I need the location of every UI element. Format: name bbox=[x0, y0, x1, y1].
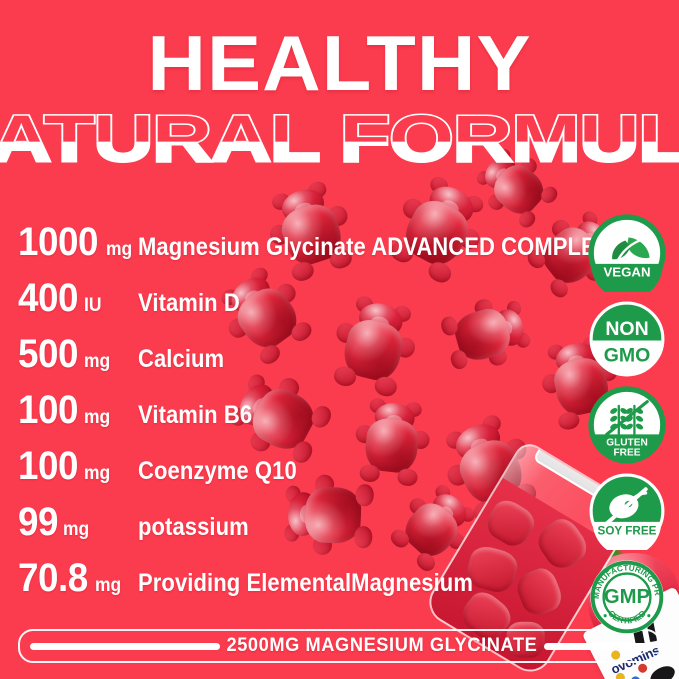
ingredient-name: Magnesium Glycinate ADVANCED COMPLEX bbox=[138, 234, 611, 260]
ingredient-unit: mg bbox=[84, 464, 110, 483]
ingredient-row: 70.8 mg Providing ElementalMagnesium bbox=[0, 558, 560, 614]
ingredient-amount: 1000 bbox=[18, 222, 98, 262]
ingredient-amount-cell: 100 mg bbox=[18, 390, 138, 430]
headline-block: HEALTHY NATURAL FORMULA NATURAL FORMULA bbox=[0, 0, 679, 176]
ingredient-amount: 100 bbox=[18, 446, 78, 486]
certification-badge-column: VEGAN NON GMO bbox=[575, 214, 679, 644]
ingredient-unit: mg bbox=[84, 408, 110, 427]
soy-free-badge-label: SOY FREE bbox=[598, 524, 657, 537]
non-gmo-badge-line2: GMO bbox=[604, 345, 651, 367]
ingredient-row: 100 mg Coenzyme Q10 bbox=[0, 446, 560, 502]
vegan-badge-icon: VEGAN bbox=[588, 214, 666, 292]
non-gmo-badge-line1: NON bbox=[605, 318, 648, 340]
ingredient-unit: mg bbox=[84, 352, 110, 371]
ingredient-unit: mg bbox=[95, 576, 121, 595]
ingredient-unit: mg bbox=[106, 240, 132, 259]
headline-line-2-wrap: NATURAL FORMULA NATURAL FORMULA bbox=[0, 102, 679, 176]
non-gmo-badge-icon: NON GMO bbox=[588, 300, 666, 378]
ingredient-amount-cell: 70.8 mg bbox=[18, 558, 138, 598]
ingredient-row: 500 mg Calcium bbox=[0, 334, 560, 390]
bottom-banner: 2500MG MAGNESIUM GLYCINATE bbox=[18, 629, 661, 663]
gmp-badge-center: GMP bbox=[604, 586, 650, 608]
product-infographic: HEALTHY NATURAL FORMULA NATURAL FORMULA … bbox=[0, 0, 679, 679]
ingredient-amount-cell: 100 mg bbox=[18, 446, 138, 486]
ingredient-unit: mg bbox=[63, 520, 89, 539]
ingredient-row: 99 mg potassium bbox=[0, 502, 560, 558]
banner-text: 2500MG MAGNESIUM GLYCINATE bbox=[226, 635, 537, 657]
ingredient-amount: 99 bbox=[18, 502, 58, 542]
ingredient-amount-cell: 500 mg bbox=[18, 334, 138, 374]
ingredient-name: Vitamin B6 bbox=[138, 402, 252, 428]
ingredient-amount: 70.8 bbox=[18, 558, 88, 598]
ingredient-row: 400 IU Vitamin D bbox=[0, 278, 560, 334]
ingredient-name: Calcium bbox=[138, 346, 224, 372]
soy-free-badge-icon: SOY FREE bbox=[588, 472, 666, 550]
ingredient-amount: 500 bbox=[18, 334, 78, 374]
ingredient-name: Providing ElementalMagnesium bbox=[138, 570, 473, 596]
gmp-badge-icon: GOOD MANUFACTURING PRACTICE CERTIFIED GM… bbox=[588, 558, 666, 636]
gluten-free-badge-line2: FREE bbox=[613, 447, 640, 458]
ingredient-row: 1000 mg Magnesium Glycinate ADVANCED COM… bbox=[0, 222, 560, 278]
ingredient-name: potassium bbox=[138, 514, 249, 540]
headline-line-1: HEALTHY bbox=[0, 0, 679, 104]
ingredient-unit: IU bbox=[84, 296, 101, 315]
ingredient-name: Vitamin D bbox=[138, 290, 240, 316]
gluten-free-badge-icon: GLUTEN FREE bbox=[588, 386, 666, 464]
ingredient-amount-cell: 400 IU bbox=[18, 278, 138, 318]
ingredient-amount-cell: 1000 mg bbox=[18, 222, 138, 262]
ingredient-amount: 400 bbox=[18, 278, 78, 318]
ingredient-amount: 100 bbox=[18, 390, 78, 430]
ingredient-amount-cell: 99 mg bbox=[18, 502, 138, 542]
ingredient-list: 1000 mg Magnesium Glycinate ADVANCED COM… bbox=[0, 222, 560, 614]
banner-rule-left bbox=[30, 643, 220, 650]
vegan-badge-label: VEGAN bbox=[603, 264, 650, 279]
gluten-free-badge-line1: GLUTEN bbox=[606, 437, 648, 448]
ingredient-row: 100 mg Vitamin B6 bbox=[0, 390, 560, 446]
ingredient-name: Coenzyme Q10 bbox=[138, 458, 297, 484]
